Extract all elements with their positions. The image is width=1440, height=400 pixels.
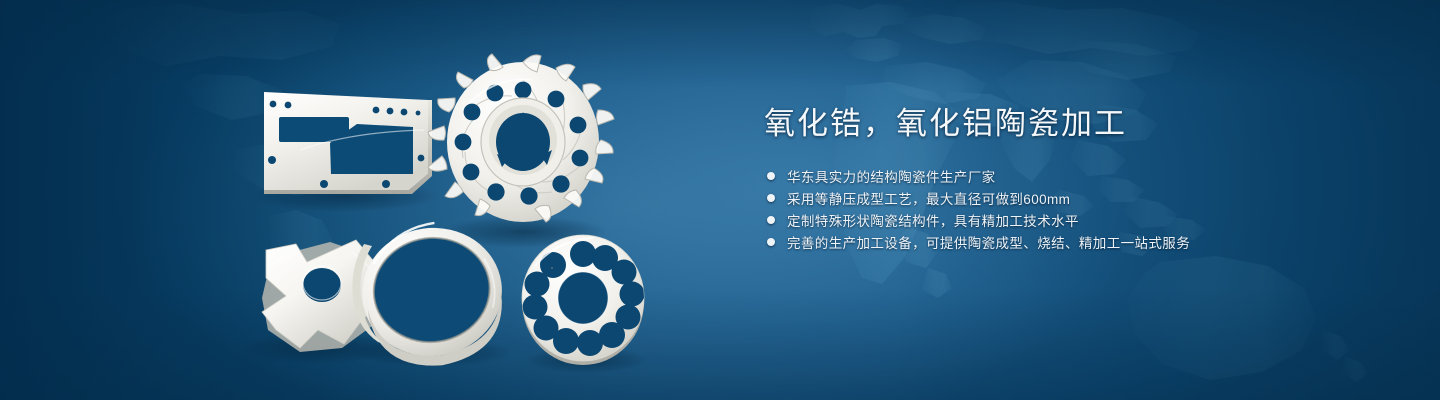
list-item: 完善的生产加工设备，可提供陶瓷成型、烧结、精加工一站式服务 [764,231,1384,253]
bullet-dot-icon [767,194,775,202]
ceramic-machined-plate [264,92,432,194]
banner-feature-list: 华东具实力的结构陶瓷件生产厂家 采用等静压成型工艺，最大直径可做到600mm 定… [764,165,1384,253]
ceramic-impeller-disc [428,54,614,222]
bullet-text: 华东具实力的结构陶瓷件生产厂家 [787,166,996,186]
hero-banner: 氧化锆，氧化铝陶瓷加工 华东具实力的结构陶瓷件生产厂家 采用等静压成型工艺，最大… [0,0,1440,400]
bullet-text: 完善的生产加工设备，可提供陶瓷成型、烧结、精加工一站式服务 [787,232,1190,252]
banner-headline: 氧化锆，氧化铝陶瓷加工 [764,106,1384,143]
ceramic-perforated-disc [522,235,645,365]
list-item: 采用等静压成型工艺，最大直径可做到600mm [764,187,1384,209]
banner-copy: 氧化锆，氧化铝陶瓷加工 华东具实力的结构陶瓷件生产厂家 采用等静压成型工艺，最大… [764,106,1384,253]
bullet-dot-icon [767,238,775,246]
bullet-text: 定制特殊形状陶瓷结构件，具有精加工技术水平 [787,210,1079,230]
bullet-dot-icon [767,216,775,224]
product-photo-group [0,0,720,400]
list-item: 华东具实力的结构陶瓷件生产厂家 [764,165,1384,187]
bullet-text: 采用等静压成型工艺，最大直径可做到600mm [787,188,1070,208]
list-item: 定制特殊形状陶瓷结构件，具有精加工技术水平 [764,209,1384,231]
bullet-dot-icon [767,172,775,180]
